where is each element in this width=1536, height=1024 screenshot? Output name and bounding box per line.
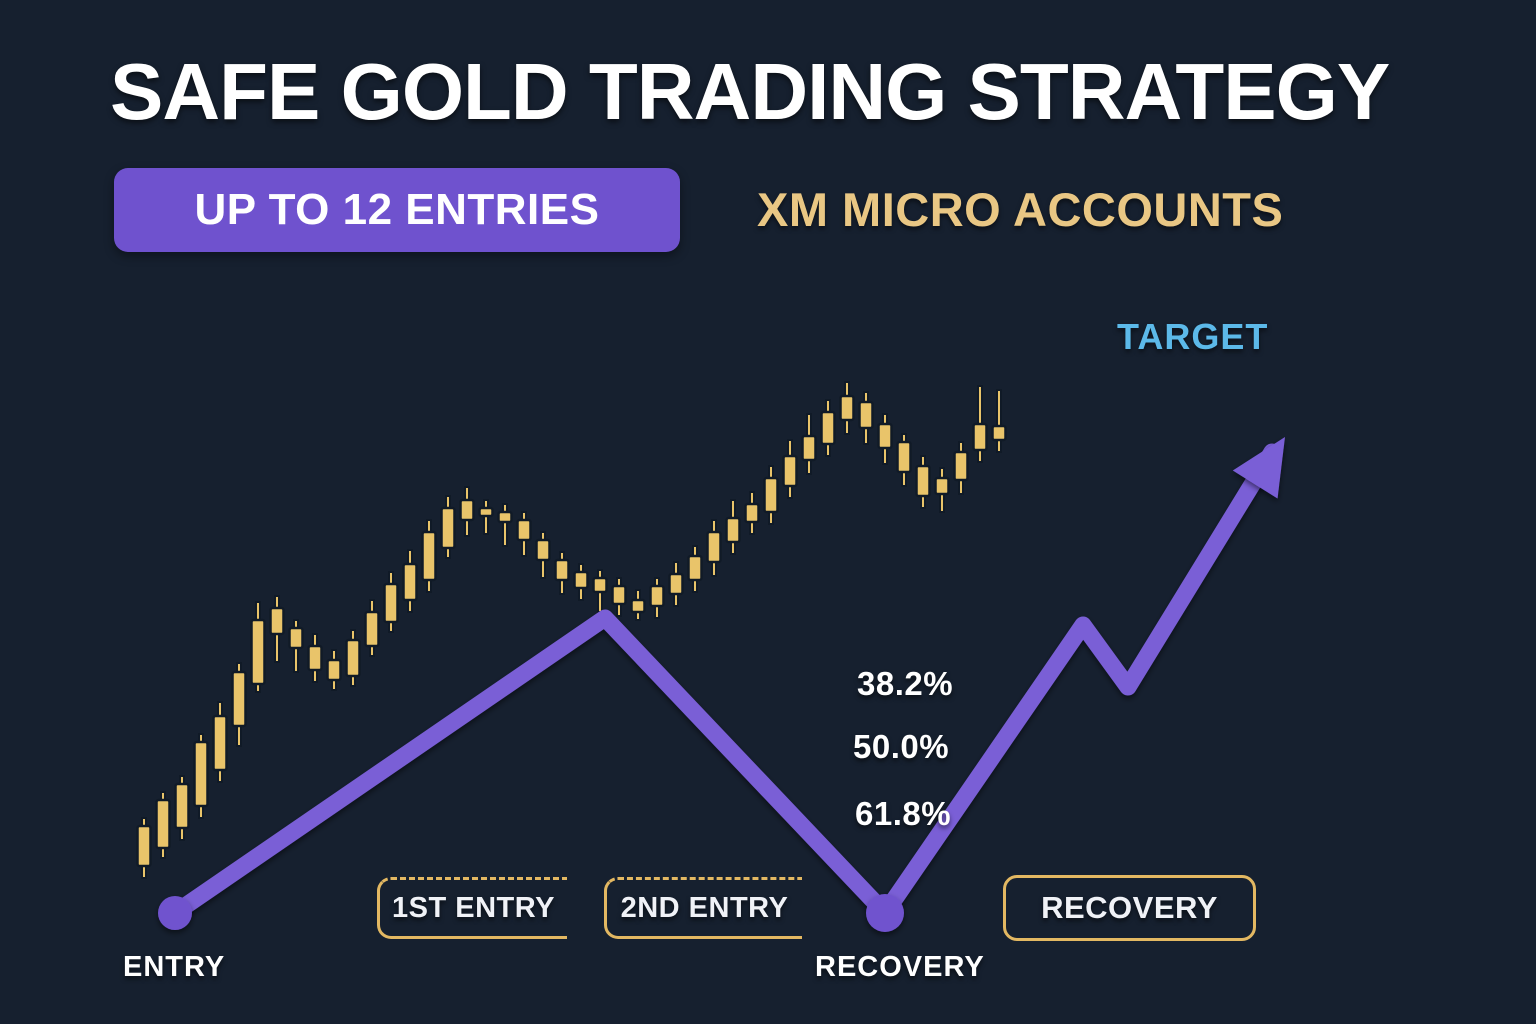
candle-body [746, 504, 759, 522]
entry-point-label: ENTRY [123, 951, 225, 984]
candle-body [632, 600, 645, 612]
candle-body [575, 572, 588, 588]
target-label: TARGET [1117, 316, 1268, 358]
candle-body [651, 586, 664, 606]
candle-body [157, 800, 170, 848]
candle-body [537, 540, 550, 560]
candle-body [214, 716, 227, 770]
recovery-marker-dot [866, 894, 904, 932]
candle-body [138, 826, 151, 866]
candle-body [366, 612, 379, 646]
candle-body [613, 586, 626, 604]
candle-body [708, 532, 721, 562]
candle-body [518, 520, 531, 540]
candle-body [955, 452, 968, 480]
candle-body [841, 396, 854, 420]
candle-body [860, 402, 873, 428]
candle-body [879, 424, 892, 448]
candle-body [347, 640, 360, 676]
badge-first-entry: 1ST ENTRY [377, 877, 567, 939]
badge-recovery-label: RECOVERY [1041, 890, 1218, 926]
candle-body [404, 564, 417, 600]
candle-body [233, 672, 246, 726]
candle-body [765, 478, 778, 512]
candle-body [442, 508, 455, 548]
badge-second-entry: 2ND ENTRY [604, 877, 802, 939]
candle-body [385, 584, 398, 622]
chart-graphics [0, 0, 1536, 1024]
candle-body [252, 620, 265, 684]
candle-body [689, 556, 702, 580]
candle-body [670, 574, 683, 594]
candle-body [328, 660, 341, 680]
candle-body [898, 442, 911, 472]
candle-body [195, 742, 208, 806]
candle-body [784, 456, 797, 486]
fib-level-label-382: 38.2% [857, 665, 953, 703]
badge-first-entry-label: 1ST ENTRY [392, 892, 555, 925]
candle-body [917, 466, 930, 496]
candle-body [803, 436, 816, 460]
badge-second-entry-label: 2ND ENTRY [621, 892, 789, 925]
candle-body [480, 508, 493, 516]
fib-level-label-500: 50.0% [853, 728, 949, 766]
candle-body [993, 426, 1006, 440]
strategy-polyline [175, 452, 1272, 913]
candle-body [594, 578, 607, 592]
candle-body [309, 646, 322, 670]
candle-body [461, 500, 474, 520]
candle-body [499, 512, 512, 522]
candle-body [936, 478, 949, 494]
candle-body [822, 412, 835, 444]
fib-level-label-618: 61.8% [855, 795, 951, 833]
infographic-canvas: SAFE GOLD TRADING STRATEGY UP TO 12 ENTR… [0, 0, 1536, 1024]
recovery-point-label: RECOVERY [815, 951, 985, 984]
entry-marker-dot [158, 896, 192, 930]
candle-body [290, 628, 303, 648]
candle-body [423, 532, 436, 580]
candle-wick [503, 504, 507, 546]
candle-body [974, 424, 987, 450]
candle-body [727, 518, 740, 542]
candle-body [176, 784, 189, 828]
badge-recovery: RECOVERY [1003, 875, 1256, 941]
candle-wick [997, 390, 1001, 452]
candle-body [271, 608, 284, 634]
candle-body [556, 560, 569, 580]
